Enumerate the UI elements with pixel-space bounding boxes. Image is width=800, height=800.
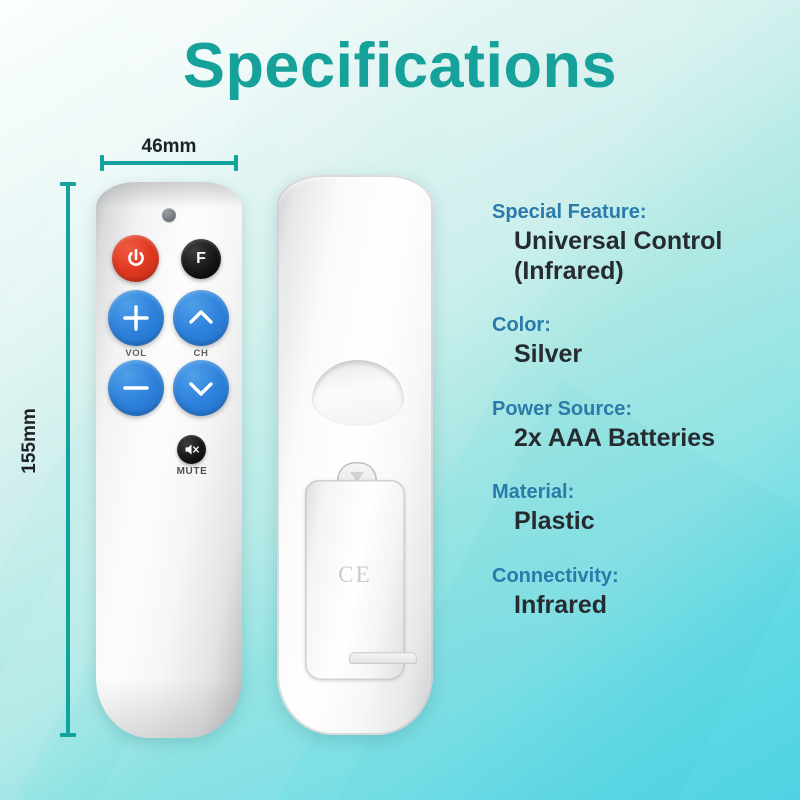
minus-icon bbox=[119, 371, 153, 405]
spec-value: Plastic bbox=[514, 507, 792, 537]
remote-back-view: CE bbox=[277, 175, 433, 735]
channel-down-button[interactable] bbox=[173, 360, 229, 416]
spec-value: Silver bbox=[514, 340, 792, 370]
spec-label: Color: bbox=[492, 313, 792, 338]
height-dimension-line bbox=[66, 182, 70, 737]
channel-label: CH bbox=[173, 348, 229, 359]
spec-label: Connectivity: bbox=[492, 564, 792, 589]
spec-label: Material: bbox=[492, 480, 792, 505]
spec-value: Universal Control (Infrared) bbox=[514, 227, 792, 286]
spec-value: 2x AAA Batteries bbox=[514, 424, 792, 454]
spec-row: Color: Silver bbox=[492, 313, 792, 370]
width-dimension-line bbox=[100, 161, 238, 165]
body-top-shading bbox=[96, 182, 242, 208]
function-button-label: F bbox=[196, 250, 206, 268]
ir-led-icon bbox=[162, 208, 176, 222]
ce-mark: CE bbox=[305, 562, 405, 588]
spec-row: Material: Plastic bbox=[492, 480, 792, 537]
remote-front-view: F VOL C bbox=[96, 182, 242, 738]
page-title: Specifications bbox=[0, 30, 800, 102]
battery-compartment-cover: CE bbox=[305, 480, 405, 680]
volume-down-button[interactable] bbox=[108, 360, 164, 416]
volume-label: VOL bbox=[108, 348, 164, 359]
chevron-down-icon bbox=[184, 371, 218, 405]
spec-row: Power Source: 2x AAA Batteries bbox=[492, 397, 792, 454]
chevron-up-icon bbox=[184, 301, 218, 335]
product-specifications-infographic: Specifications 46mm 155mm F bbox=[0, 0, 800, 800]
power-icon bbox=[124, 247, 148, 271]
battery-cover-foot-notch bbox=[349, 652, 417, 664]
power-button[interactable] bbox=[112, 235, 159, 282]
channel-up-button[interactable] bbox=[173, 290, 229, 346]
width-dimension-label: 46mm bbox=[100, 136, 238, 158]
spec-row: Connectivity: Infrared bbox=[492, 564, 792, 621]
mute-speaker-icon bbox=[183, 441, 200, 458]
mute-button[interactable] bbox=[177, 435, 206, 464]
height-dimension-label: 155mm bbox=[19, 386, 41, 496]
function-button[interactable]: F bbox=[181, 239, 221, 279]
spec-label: Power Source: bbox=[492, 397, 792, 422]
spec-label: Special Feature: bbox=[492, 200, 792, 225]
volume-up-button[interactable] bbox=[108, 290, 164, 346]
body-bottom-shading bbox=[96, 678, 242, 738]
spec-value: Infrared bbox=[514, 591, 792, 621]
plus-icon bbox=[119, 301, 153, 335]
spec-row: Special Feature: Universal Control (Infr… bbox=[492, 200, 792, 286]
mute-label: MUTE bbox=[166, 466, 218, 477]
specification-list: Special Feature: Universal Control (Infr… bbox=[492, 200, 792, 620]
